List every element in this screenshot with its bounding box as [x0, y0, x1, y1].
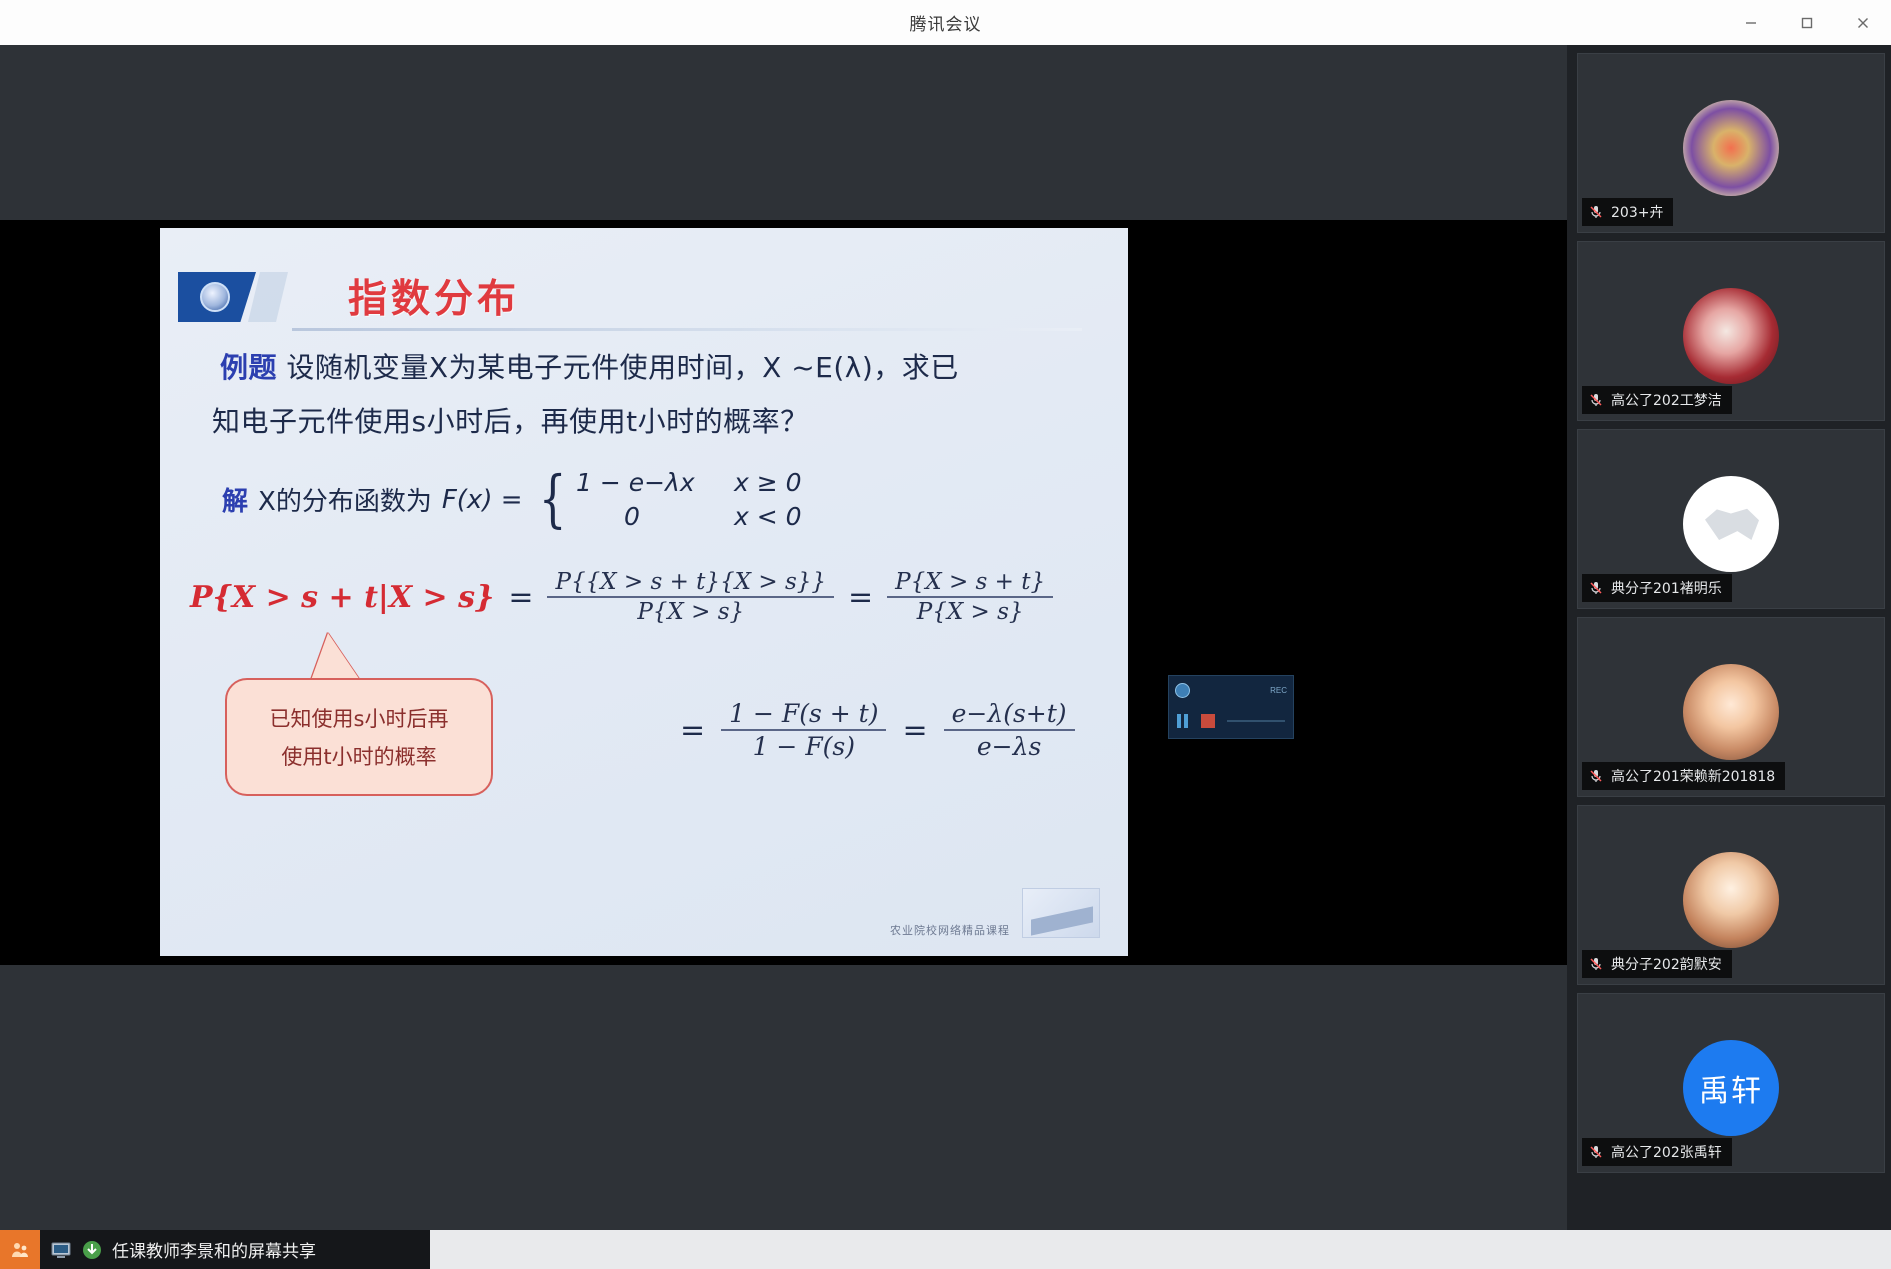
status-bar: 任课教师李景和的屏幕共享: [0, 1230, 1891, 1269]
cdf-case1-cond: x ≥ 0: [734, 466, 824, 500]
participant-name-chip: 典分子202韵默安: [1582, 950, 1732, 978]
cdf-case1-value: 1 − e−λx: [576, 466, 688, 500]
fraction-2: P{X > s + t} P{X > s}: [887, 568, 1053, 626]
globe-icon: [1175, 683, 1190, 698]
avatar: [1683, 100, 1779, 196]
participant-name: 高公了202工梦洁: [1611, 390, 1722, 410]
slide-body: 例题 设随机变量X为某电子元件使用时间，X ~E(λ)，求已 知电子元件使用s小…: [160, 228, 1128, 956]
start-button[interactable]: [0, 1230, 40, 1269]
screen-share-status-item[interactable]: 任课教师李景和的屏幕共享: [40, 1230, 430, 1269]
avatar: 禹轩: [1683, 1040, 1779, 1136]
screen-recorder-widget[interactable]: REC: [1168, 675, 1294, 739]
solution-tag: 解: [222, 481, 248, 518]
slide-footer-note: 农业院校网络精品课程: [890, 922, 1010, 938]
participant-tile[interactable]: 禹轩 高公了202张禹轩: [1577, 993, 1885, 1173]
cdf-case2-value: 0: [576, 500, 688, 534]
participant-tile[interactable]: 高公了201荣赖新201818: [1577, 617, 1885, 797]
participant-name-chip: 203+卉: [1582, 198, 1673, 226]
mic-muted-icon: [1588, 956, 1604, 972]
window-controls: [1723, 0, 1891, 45]
conditional-probability-formula: P{X > s + t|X > s} = P{{X > s + t}{X > s…: [190, 568, 1053, 626]
equals-1: =: [508, 580, 533, 615]
tencent-meeting-window: 腾讯会议 指数分布: [0, 0, 1891, 1269]
cdf-lhs: F(x) =: [442, 485, 523, 515]
solution-line: 解 X的分布函数为 F(x) = { 1 − e−λx x ≥ 0 0: [222, 466, 824, 534]
problem-line-2: 知电子元件使用s小时后，再使用t小时的概率？: [212, 400, 809, 440]
avatar: [1683, 664, 1779, 760]
stop-icon[interactable]: [1201, 714, 1215, 728]
close-button[interactable]: [1835, 0, 1891, 45]
participant-name-chip: 高公了202张禹轩: [1582, 1138, 1732, 1166]
participant-tile[interactable]: 203+卉: [1577, 53, 1885, 233]
mic-muted-icon: [1588, 768, 1604, 784]
equals-2: =: [848, 580, 873, 615]
monitor-icon: [50, 1239, 72, 1261]
recorder-controls: [1169, 704, 1293, 738]
equals-4: =: [902, 713, 927, 748]
minimize-button[interactable]: [1723, 0, 1779, 45]
participant-name: 高公了201荣赖新201818: [1611, 766, 1775, 786]
participant-tile[interactable]: 高公了202工梦洁: [1577, 241, 1885, 421]
fraction-3: 1 − F(s + t) 1 − F(s): [721, 698, 886, 762]
course-logo-icon: [1022, 888, 1100, 938]
avatar: [1683, 852, 1779, 948]
mic-muted-icon: [1588, 1144, 1604, 1160]
participant-tile[interactable]: 典分子202韵默安: [1577, 805, 1885, 985]
problem-text-1: 设随机变量X为某电子元件使用时间，X ~E(λ)，求已: [286, 351, 958, 384]
callout-line-1: 已知使用s小时后再: [270, 703, 449, 733]
recorder-label: REC: [1270, 686, 1287, 695]
avatar: [1683, 476, 1779, 572]
fraction-4-numerator: e−λ(s+t): [944, 698, 1075, 729]
mic-muted-icon: [1588, 580, 1604, 596]
screen-share-label: 任课教师李景和的屏幕共享: [112, 1237, 316, 1262]
cdf-case2-cond: x < 0: [734, 500, 824, 534]
slide-footer: 农业院校网络精品课程: [890, 888, 1100, 938]
callout-tail: [310, 633, 362, 683]
callout-bubble: 已知使用s小时后再 使用t小时的概率: [225, 678, 493, 796]
window-title: 腾讯会议: [0, 10, 1891, 35]
mic-muted-icon: [1588, 392, 1604, 408]
fraction-3-denominator: 1 − F(s): [745, 731, 863, 762]
shared-screen-stage[interactable]: 指数分布 例题 设随机变量X为某电子元件使用时间，X ~E(λ)，求已 知电子元…: [0, 45, 1567, 1230]
solution-lead: X的分布函数为: [258, 481, 432, 518]
formula-lhs: P{X > s + t|X > s}: [190, 580, 494, 615]
fraction-2-denominator: P{X > s}: [909, 598, 1032, 626]
fraction-1: P{{X > s + t}{X > s}} P{X > s}: [547, 568, 834, 626]
participant-name: 典分子201褚明乐: [1611, 578, 1722, 598]
fraction-4-denominator: e−λs: [969, 731, 1049, 762]
pause-icon[interactable]: [1177, 714, 1189, 728]
fraction-1-numerator: P{{X > s + t}{X > s}}: [547, 568, 834, 596]
presentation-slide: 指数分布 例题 设随机变量X为某电子元件使用时间，X ~E(λ)，求已 知电子元…: [160, 228, 1128, 956]
participant-name: 典分子202韵默安: [1611, 954, 1722, 974]
left-brace-icon: {: [538, 473, 566, 526]
problem-line-1: 例题 设随机变量X为某电子元件使用时间，X ~E(λ)，求已: [220, 346, 959, 386]
avatar-initials: 禹轩: [1699, 1066, 1763, 1110]
title-bar: 腾讯会议: [0, 0, 1891, 45]
fraction-2-numerator: P{X > s + t}: [887, 568, 1053, 596]
participant-name-chip: 典分子201褚明乐: [1582, 574, 1732, 602]
recorder-top-row: REC: [1169, 676, 1293, 704]
maximize-button[interactable]: [1779, 0, 1835, 45]
mic-muted-icon: [1588, 204, 1604, 220]
piecewise-block: { 1 − e−λx x ≥ 0 0 x < 0: [533, 466, 824, 534]
participant-name: 高公了202张禹轩: [1611, 1142, 1722, 1162]
problem-text-2: 知电子元件使用s小时后，再使用t小时的概率？: [212, 405, 809, 438]
fraction-4: e−λ(s+t) e−λs: [944, 698, 1075, 762]
fraction-3-numerator: 1 − F(s + t): [721, 698, 886, 729]
participant-rail[interactable]: 203+卉 高公了202工梦洁 典分子201褚明乐: [1567, 45, 1891, 1230]
recorder-progress-line[interactable]: [1227, 720, 1285, 722]
participant-name: 203+卉: [1611, 202, 1663, 222]
fraction-1-denominator: P{X > s}: [629, 598, 752, 626]
participant-name-chip: 高公了202工梦洁: [1582, 386, 1732, 414]
equals-3: =: [680, 713, 705, 748]
download-arrow-icon: [81, 1239, 103, 1261]
simplified-formula: = 1 − F(s + t) 1 − F(s) = e−λ(s+t) e−λs: [680, 698, 1075, 762]
participant-tile[interactable]: 典分子201褚明乐: [1577, 429, 1885, 609]
avatar: [1683, 288, 1779, 384]
problem-tag: 例题: [220, 351, 277, 384]
callout-line-2: 使用t小时的概率: [281, 741, 436, 771]
participant-name-chip: 高公了201荣赖新201818: [1582, 762, 1785, 790]
